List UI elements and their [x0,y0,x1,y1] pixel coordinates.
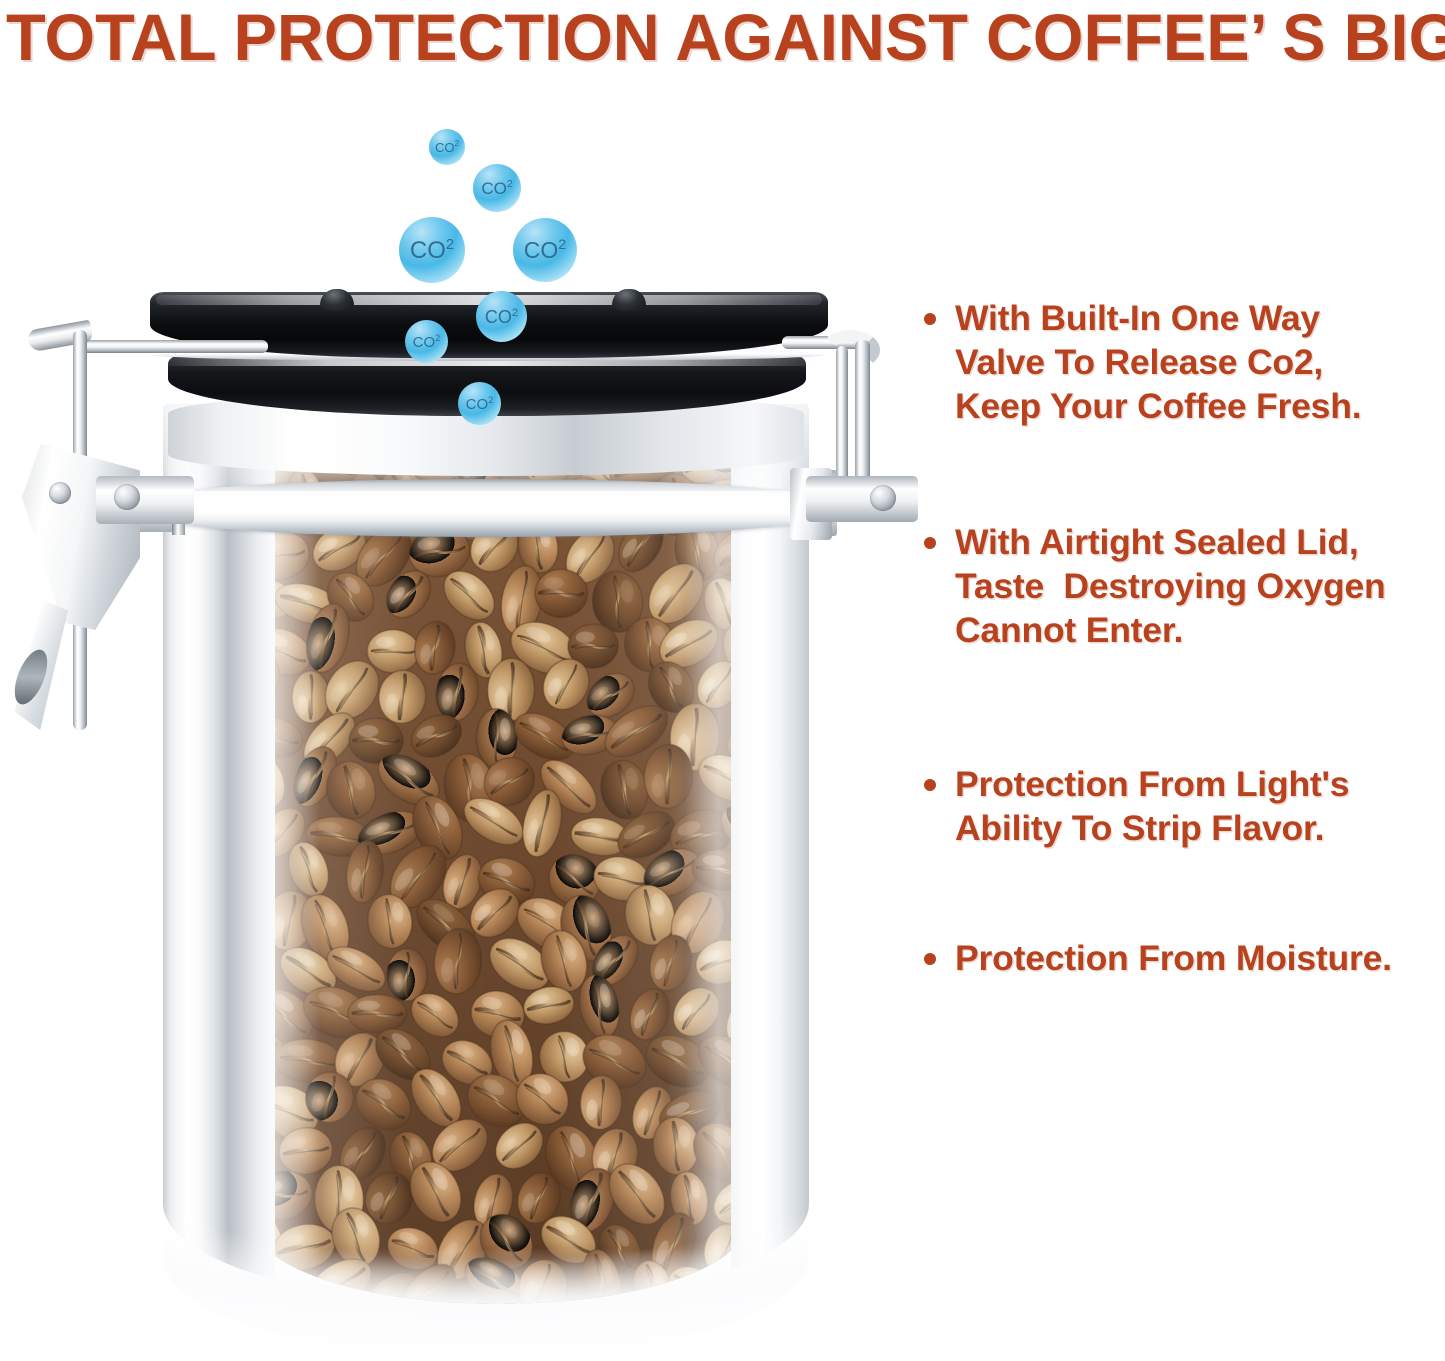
airtight-coffee-canister: CO2 CO2 CO2 CO2 CO2 CO2 CO2 [0,0,960,1361]
co2-bubble-icon: CO2 [513,218,577,282]
list-item: Protection From Light's Ability To Strip… [924,762,1444,850]
co2-bubble-icon: CO2 [473,164,521,212]
bail-elbow-right [820,330,880,370]
co2-bubble-icon: CO2 [458,382,501,425]
feature-label: Protection From Light's Ability To Strip… [955,762,1349,850]
chrome-band [160,479,812,537]
co2-bubble-icon: CO2 [476,291,527,342]
bullet-dot-icon [924,779,936,791]
feature-label: With Built-In One Way Valve To Release C… [955,296,1361,428]
lid-valve-knob-left[interactable] [320,289,354,311]
coffee-beans-fill [255,410,745,1304]
clamp-bracket-right [806,476,918,522]
clamp-bolt-pivot [114,484,140,510]
co2-bubble-icon: CO2 [399,217,465,283]
chrome-locking-clamp-lever[interactable] [22,440,140,630]
feature-label: Protection From Moisture. [955,936,1392,980]
canister-body [163,404,809,1304]
clamp-bolt-outer [49,482,71,504]
clamp-bolt-right [870,485,896,511]
co2-bubble-icon: CO2 [429,129,465,165]
bail-top-bar-left [78,340,268,353]
list-item: Protection From Moisture. [924,936,1444,980]
clamp-bracket-left [96,476,194,524]
infographic-canvas: TOTAL PROTECTION AGAINST COFFEE’ S BIGGE… [0,0,1445,1361]
list-item: With Airtight Sealed Lid, Taste Destroyi… [924,520,1444,652]
feature-label: With Airtight Sealed Lid, Taste Destroyi… [955,520,1386,652]
lid-valve-knob-right[interactable] [612,289,646,311]
canister-base [163,1196,809,1358]
co2-bubble-icon: CO2 [405,320,448,363]
bullet-dot-icon [924,313,936,325]
list-item: With Built-In One Way Valve To Release C… [924,296,1444,428]
bullet-dot-icon [924,537,936,549]
canister-wall-left [163,404,275,1304]
bullet-dot-icon [924,953,936,965]
